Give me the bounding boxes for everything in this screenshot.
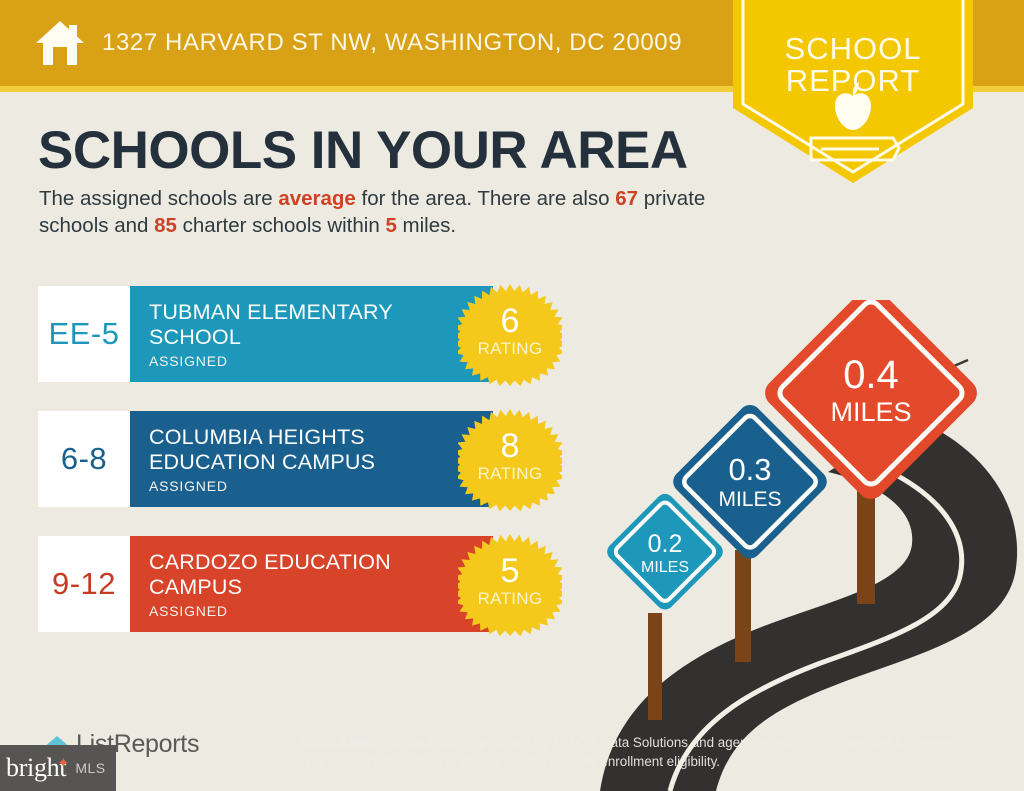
summary-part-4: charter schools within — [177, 214, 386, 237]
distance-value: 0.2 — [648, 530, 683, 558]
disclaimer-body: School data is provided by ATTOM Data So… — [300, 735, 971, 769]
page-title: SCHOOLS IN YOUR AREA — [38, 122, 688, 180]
school-row[interactable]: EE-5 TUBMAN ELEMENTARY SCHOOL ASSIGNED 6… — [38, 286, 493, 382]
badge-line-1: SCHOOL — [733, 32, 973, 66]
distance-value: 0.3 — [728, 452, 771, 487]
school-name: TUBMAN ELEMENTARY SCHOOL — [149, 300, 479, 350]
summary-part-1: The assigned schools are — [39, 187, 278, 210]
school-name: COLUMBIA HEIGHTS EDUCATION CAMPUS — [149, 425, 479, 475]
disclaimer-text: DISCLAIMER: School data is provided by A… — [300, 733, 980, 771]
rating-value: 5 — [458, 553, 562, 589]
distance-value: 0.4 — [843, 353, 899, 397]
school-report-infographic: 1327 HARVARD ST NW, WASHINGTON, DC 20009… — [0, 0, 1024, 791]
grade-range-label: 9-12 — [52, 566, 116, 602]
school-report-badge: SCHOOL REPORT — [733, 0, 973, 198]
bright-mls-accent-mark: ✦ — [57, 754, 69, 773]
summary-highlight-private-count: 67 — [615, 187, 638, 210]
grade-range-box: 9-12 — [38, 536, 130, 632]
rating-starburst: 6 RATING — [458, 282, 562, 386]
distance-signs-illustration: 0.4 MILES 0.3 MILES 0.2 MILES — [596, 300, 1024, 791]
bright-mls-watermark: bright✦ MLS — [0, 745, 116, 791]
school-name: CARDOZO EDUCATION CAMPUS — [149, 550, 479, 600]
assignment-status: ASSIGNED — [149, 603, 228, 619]
rating-caption: RATING — [458, 464, 562, 484]
rating-value: 6 — [458, 303, 562, 339]
grade-range-label: EE-5 — [49, 316, 120, 352]
grade-range-box: 6-8 — [38, 411, 130, 507]
grade-range-box: EE-5 — [38, 286, 130, 382]
summary-highlight-radius: 5 — [385, 214, 396, 237]
sign-post — [735, 550, 751, 662]
summary-highlight-charter-count: 85 — [154, 214, 177, 237]
school-bar: CARDOZO EDUCATION CAMPUS ASSIGNED — [130, 536, 493, 632]
disclaimer-label: DISCLAIMER: — [300, 735, 388, 750]
badge-line-2: REPORT — [733, 64, 973, 98]
assignment-status: ASSIGNED — [149, 478, 228, 494]
home-icon — [34, 19, 86, 69]
assignment-status: ASSIGNED — [149, 353, 228, 369]
property-address: 1327 HARVARD ST NW, WASHINGTON, DC 20009 — [102, 29, 682, 57]
distance-unit: MILES — [830, 397, 911, 427]
summary-part-2: for the area. There are also — [356, 187, 615, 210]
rating-caption: RATING — [458, 339, 562, 359]
summary-text: The assigned schools are average for the… — [39, 185, 739, 239]
rating-starburst: 5 RATING — [458, 532, 562, 636]
distance-unit: MILES — [641, 559, 689, 576]
distance-unit: MILES — [718, 488, 781, 511]
rating-starburst: 8 RATING — [458, 407, 562, 511]
grade-range-label: 6-8 — [61, 441, 107, 477]
rating-value: 8 — [458, 428, 562, 464]
summary-highlight-average: average — [278, 187, 356, 210]
sign-post — [648, 613, 662, 720]
school-bar: TUBMAN ELEMENTARY SCHOOL ASSIGNED — [130, 286, 493, 382]
school-row[interactable]: 6-8 COLUMBIA HEIGHTS EDUCATION CAMPUS AS… — [38, 411, 493, 507]
bright-mls-suffix: MLS — [75, 760, 105, 776]
school-bar: COLUMBIA HEIGHTS EDUCATION CAMPUS ASSIGN… — [130, 411, 493, 507]
summary-part-5: miles. — [397, 214, 456, 237]
rating-caption: RATING — [458, 589, 562, 609]
school-row[interactable]: 9-12 CARDOZO EDUCATION CAMPUS ASSIGNED 5… — [38, 536, 493, 632]
